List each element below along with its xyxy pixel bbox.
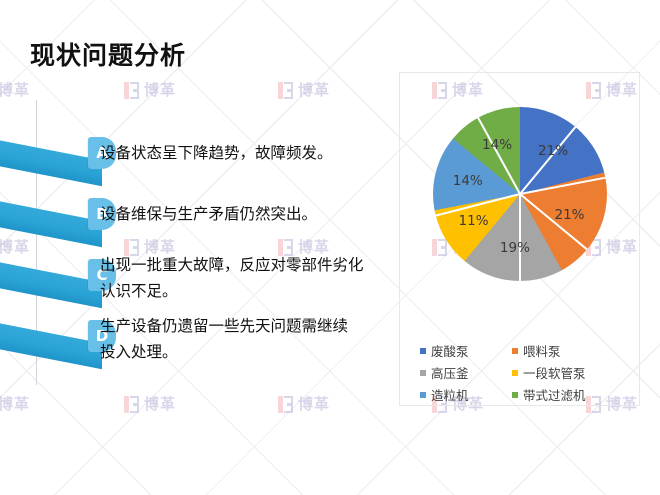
legend-swatch-icon [420, 370, 426, 376]
legend-swatch-icon [420, 348, 426, 354]
list-item-line: 认识不足。 [100, 278, 392, 304]
pie-data-label: 21% [538, 143, 568, 159]
slide-canvas: 博革 博革 博革 博革 博革 博革 博革 博革 [0, 0, 660, 495]
list-item-line: 设备状态呈下降趋势，故障频发。 [100, 140, 392, 166]
legend-swatch-icon [420, 392, 426, 398]
list-item-line: 投入处理。 [100, 339, 392, 365]
pie-chart[interactable]: 21%21%19%11%14%14% [414, 95, 626, 307]
bullet-list: A 设备状态呈下降趋势，故障频发。 B 设备维保与生产矛盾仍然突出。 C 出现一… [0, 0, 400, 495]
legend-item[interactable]: 一段软管泵 [512, 363, 625, 382]
legend-item[interactable]: 废酸泵 [420, 341, 512, 360]
pie-data-label: 19% [500, 240, 530, 256]
legend-swatch-icon [512, 370, 518, 376]
legend-label: 喂料泵 [523, 341, 561, 360]
chart-legend[interactable]: 废酸泵喂料泵高压釜一段软管泵造粒机带式过滤机 [420, 341, 625, 404]
legend-item[interactable]: 高压釜 [420, 363, 512, 382]
ribbon-band [0, 323, 102, 369]
ribbon-shape-d: D [30, 323, 102, 349]
list-item-text: 生产设备仍遗留一些先天问题需继续 投入处理。 [100, 313, 392, 365]
pie-slice-separator [519, 194, 521, 281]
ribbon-band [0, 201, 102, 247]
legend-item[interactable]: 带式过滤机 [512, 385, 625, 404]
list-item-line: 生产设备仍遗留一些先天问题需继续 [100, 313, 392, 339]
list-item-text: 出现一批重大故障，反应对零部件劣化 认识不足。 [100, 252, 392, 304]
legend-label: 高压釜 [431, 363, 469, 382]
ribbon-band [0, 262, 102, 308]
pie-data-label: 11% [459, 213, 489, 229]
pie-data-label: 14% [482, 137, 512, 153]
ribbon-band [0, 140, 102, 186]
legend-swatch-icon [512, 392, 518, 398]
legend-item[interactable]: 喂料泵 [512, 341, 625, 360]
ribbon-shape-a: A [30, 140, 102, 166]
ribbon-shape-b: B [30, 201, 102, 227]
chart-panel[interactable]: 21%21%19%11%14%14% 废酸泵喂料泵高压釜一段软管泵造粒机带式过滤… [399, 72, 640, 406]
page-title: 现状问题分析 [30, 36, 186, 72]
list-item-text: 设备维保与生产矛盾仍然突出。 [100, 201, 392, 227]
pie-data-label: 21% [554, 207, 584, 223]
pie-data-label: 14% [453, 173, 483, 189]
list-item-line: 出现一批重大故障，反应对零部件劣化 [100, 252, 392, 278]
legend-label: 废酸泵 [431, 341, 469, 360]
ribbon-shape-c: C [30, 262, 102, 288]
legend-label: 一段软管泵 [523, 363, 586, 382]
legend-item[interactable]: 造粒机 [420, 385, 512, 404]
list-item-text: 设备状态呈下降趋势，故障频发。 [100, 140, 392, 166]
legend-label: 造粒机 [431, 385, 469, 404]
legend-label: 带式过滤机 [523, 385, 586, 404]
list-item-line: 设备维保与生产矛盾仍然突出。 [100, 201, 392, 227]
legend-swatch-icon [512, 348, 518, 354]
